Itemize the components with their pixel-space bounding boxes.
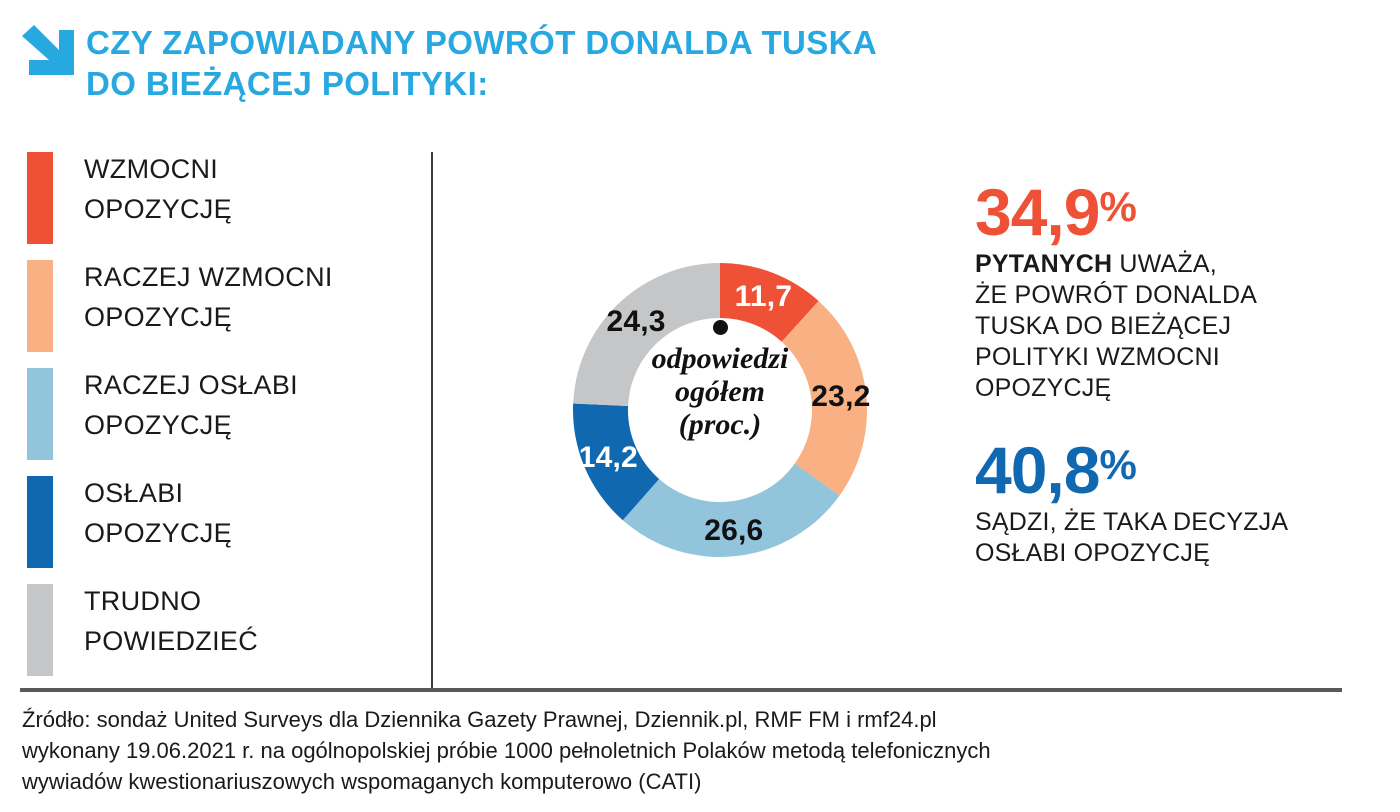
donut-chart: odpowiedzi ogółem (proc.) 11,723,226,614… [470,160,970,660]
donut-slice-value-label: 14,2 [579,441,638,475]
legend-item-raczej-oslabi: RACZEJ OSŁABI OPOZYCJĘ [27,368,417,476]
stat-percent-sign: % [1099,183,1135,230]
donut-slice-value-label: 26,6 [704,514,763,548]
donut-chart-svg [470,160,970,660]
stat-number-value: 34,9 [975,175,1099,249]
stat-percent-sign: % [1099,441,1135,488]
legend-item-label: RACZEJ OSŁABI OPOZYCJĘ [84,365,298,445]
donut-slice-value-label: 23,2 [811,380,870,414]
stats-panel: 34,9% PYTANYCH UWAŻA, ŻE POWRÓT DONALDA … [975,172,1375,595]
page-title: CZY ZAPOWIADANY POWRÓT DONALDA TUSKA DO … [86,22,1186,104]
arrow-down-right-icon [18,22,76,80]
legend-item-raczej-wzmocni: RACZEJ WZMOCNI OPOZYCJĘ [27,260,417,368]
legend-swatch [27,260,53,352]
legend-swatch [27,368,53,460]
legend-swatch [27,152,53,244]
stat-number: 40,8% [975,430,1375,505]
chart-legend: WZMOCNI OPOZYCJĘ RACZEJ WZMOCNI OPOZYCJĘ… [27,152,417,692]
stat-number-value: 40,8 [975,433,1099,507]
stat-description-rest: SĄDZI, ŻE TAKA DECYZJA OSŁABI OPOZYCJĘ [975,508,1288,567]
legend-swatch [27,584,53,676]
legend-swatch [27,476,53,568]
legend-item-oslabi: OSŁABI OPOZYCJĘ [27,476,417,584]
legend-item-label: WZMOCNI OPOZYCJĘ [84,149,232,229]
page-title-line-1: CZY ZAPOWIADANY POWRÓT DONALDA TUSKA [86,22,1186,63]
vertical-divider [431,152,433,690]
legend-item-trudno-powiedziec: TRUDNO POWIEDZIEĆ [27,584,417,692]
legend-item-label: RACZEJ WZMOCNI OPOZYCJĘ [84,257,333,337]
page-title-line-2: DO BIEŻĄCEJ POLITYKI: [86,63,1186,104]
donut-slice-value-label: 24,3 [606,305,665,339]
legend-item-label: TRUDNO POWIEDZIEĆ [84,581,258,661]
header: CZY ZAPOWIADANY POWRÓT DONALDA TUSKA DO … [0,0,1400,140]
legend-item-wzmocni: WZMOCNI OPOZYCJĘ [27,152,417,260]
stat-block-oslabi: 40,8% SĄDZI, ŻE TAKA DECYZJA OSŁABI OPOZ… [975,430,1375,569]
stat-description: SĄDZI, ŻE TAKA DECYZJA OSŁABI OPOZYCJĘ [975,507,1375,569]
stat-description-lead: PYTANYCH [975,250,1112,278]
donut-slice-value-label: 11,7 [735,280,793,314]
legend-item-label: OSŁABI OPOZYCJĘ [84,473,232,553]
stat-number: 34,9% [975,172,1375,247]
stat-block-wzmocni: 34,9% PYTANYCH UWAŻA, ŻE POWRÓT DONALDA … [975,172,1375,404]
source-footnote: Źródło: sondaż United Surveys dla Dzienn… [22,704,1362,797]
stat-description: PYTANYCH UWAŻA, ŻE POWRÓT DONALDA TUSKA … [975,249,1375,404]
